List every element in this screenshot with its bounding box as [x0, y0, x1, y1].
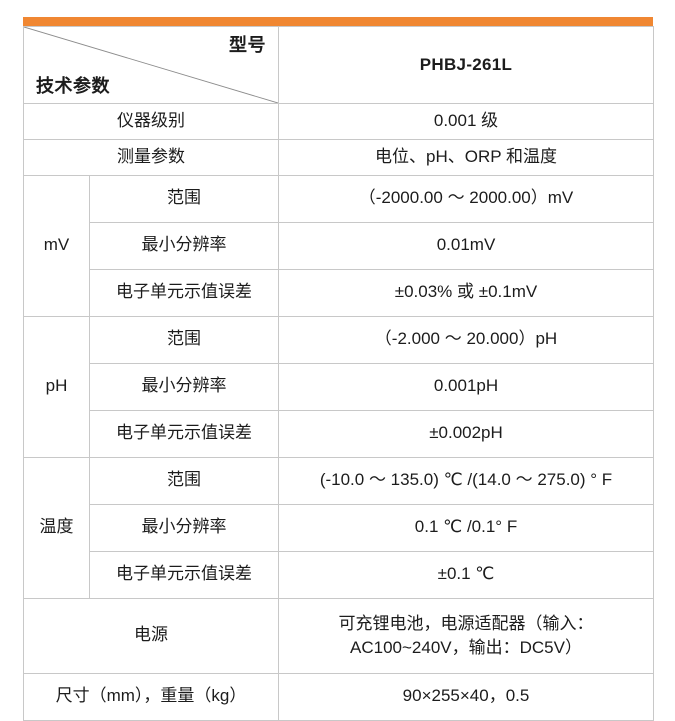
spec-sheet-page: 型号 技术参数 PHBJ-261L 仪器级别 0.001 级 测量参数 电位、p… [0, 0, 675, 621]
table-row: pH 范围 （-2.000 〜 20.000）pH [24, 316, 654, 363]
table-row: 电子单元示值误差 ±0.03% 或 ±0.1mV [24, 269, 654, 316]
row-value-ph-error: ±0.002pH [279, 410, 654, 457]
header-model-label: 型号 [229, 33, 266, 57]
row-value-mv-range: （-2000.00 〜 2000.00）mV [279, 175, 654, 222]
row-value-mv-resolution: 0.01mV [279, 222, 654, 269]
specification-table: 型号 技术参数 PHBJ-261L 仪器级别 0.001 级 测量参数 电位、p… [23, 26, 654, 721]
table-row: 仪器级别 0.001 级 [24, 104, 654, 140]
table-row: 电子单元示值误差 ±0.002pH [24, 410, 654, 457]
row-label-temp-range: 范围 [90, 457, 279, 504]
row-label-power-supply: 电源 [24, 598, 279, 673]
spec-table-container: 型号 技术参数 PHBJ-261L 仪器级别 0.001 级 测量参数 电位、p… [23, 17, 653, 721]
row-label-dimensions-weight: 尺寸（mm），重量（kg） [24, 673, 279, 720]
table-row: mV 范围 （-2000.00 〜 2000.00）mV [24, 175, 654, 222]
row-label-instrument-grade: 仪器级别 [24, 104, 279, 140]
row-value-instrument-grade: 0.001 级 [279, 104, 654, 140]
row-value-dimensions-weight: 90×255×40，0.5 [279, 673, 654, 720]
table-row: 最小分辨率 0.001pH [24, 363, 654, 410]
row-label-measurement-parameters: 测量参数 [24, 139, 279, 175]
table-header-row: 型号 技术参数 PHBJ-261L [24, 27, 654, 104]
table-row: 测量参数 电位、pH、ORP 和温度 [24, 139, 654, 175]
row-value-power-supply: 可充锂电池，电源适配器（输入： AC100~240V，输出：DC5V） [279, 598, 654, 673]
table-row: 最小分辨率 0.01mV [24, 222, 654, 269]
row-value-temp-range: (-10.0 〜 135.0) ℃ /(14.0 〜 275.0) ° F [279, 457, 654, 504]
row-label-mv-range: 范围 [90, 175, 279, 222]
row-label-mv-resolution: 最小分辨率 [90, 222, 279, 269]
header-model-value: PHBJ-261L [279, 27, 654, 104]
accent-bar-top [23, 17, 653, 26]
row-value-ph-resolution: 0.001pH [279, 363, 654, 410]
row-label-ph-range: 范围 [90, 316, 279, 363]
power-supply-line-1: 可充锂电池，电源适配器（输入： [283, 612, 649, 636]
row-label-ph-resolution: 最小分辨率 [90, 363, 279, 410]
row-value-temp-error: ±0.1 ℃ [279, 551, 654, 598]
row-value-temp-resolution: 0.1 ℃ /0.1° F [279, 504, 654, 551]
header-diagonal-cell: 型号 技术参数 [24, 27, 279, 104]
row-value-ph-range: （-2.000 〜 20.000）pH [279, 316, 654, 363]
row-label-ph-error: 电子单元示值误差 [90, 410, 279, 457]
table-row: 电子单元示值误差 ±0.1 ℃ [24, 551, 654, 598]
table-row: 电源 可充锂电池，电源适配器（输入： AC100~240V，输出：DC5V） [24, 598, 654, 673]
row-label-temp-resolution: 最小分辨率 [90, 504, 279, 551]
table-row: 尺寸（mm），重量（kg） 90×255×40，0.5 [24, 673, 654, 720]
power-supply-line-2: AC100~240V，输出：DC5V） [283, 636, 649, 660]
header-parameter-label: 技术参数 [36, 74, 110, 98]
table-row: 温度 范围 (-10.0 〜 135.0) ℃ /(14.0 〜 275.0) … [24, 457, 654, 504]
group-label-temperature: 温度 [24, 457, 90, 598]
table-row: 最小分辨率 0.1 ℃ /0.1° F [24, 504, 654, 551]
row-value-measurement-parameters: 电位、pH、ORP 和温度 [279, 139, 654, 175]
row-label-temp-error: 电子单元示值误差 [90, 551, 279, 598]
row-value-mv-error: ±0.03% 或 ±0.1mV [279, 269, 654, 316]
row-label-mv-error: 电子单元示值误差 [90, 269, 279, 316]
group-label-mv: mV [24, 175, 90, 316]
group-label-ph: pH [24, 316, 90, 457]
